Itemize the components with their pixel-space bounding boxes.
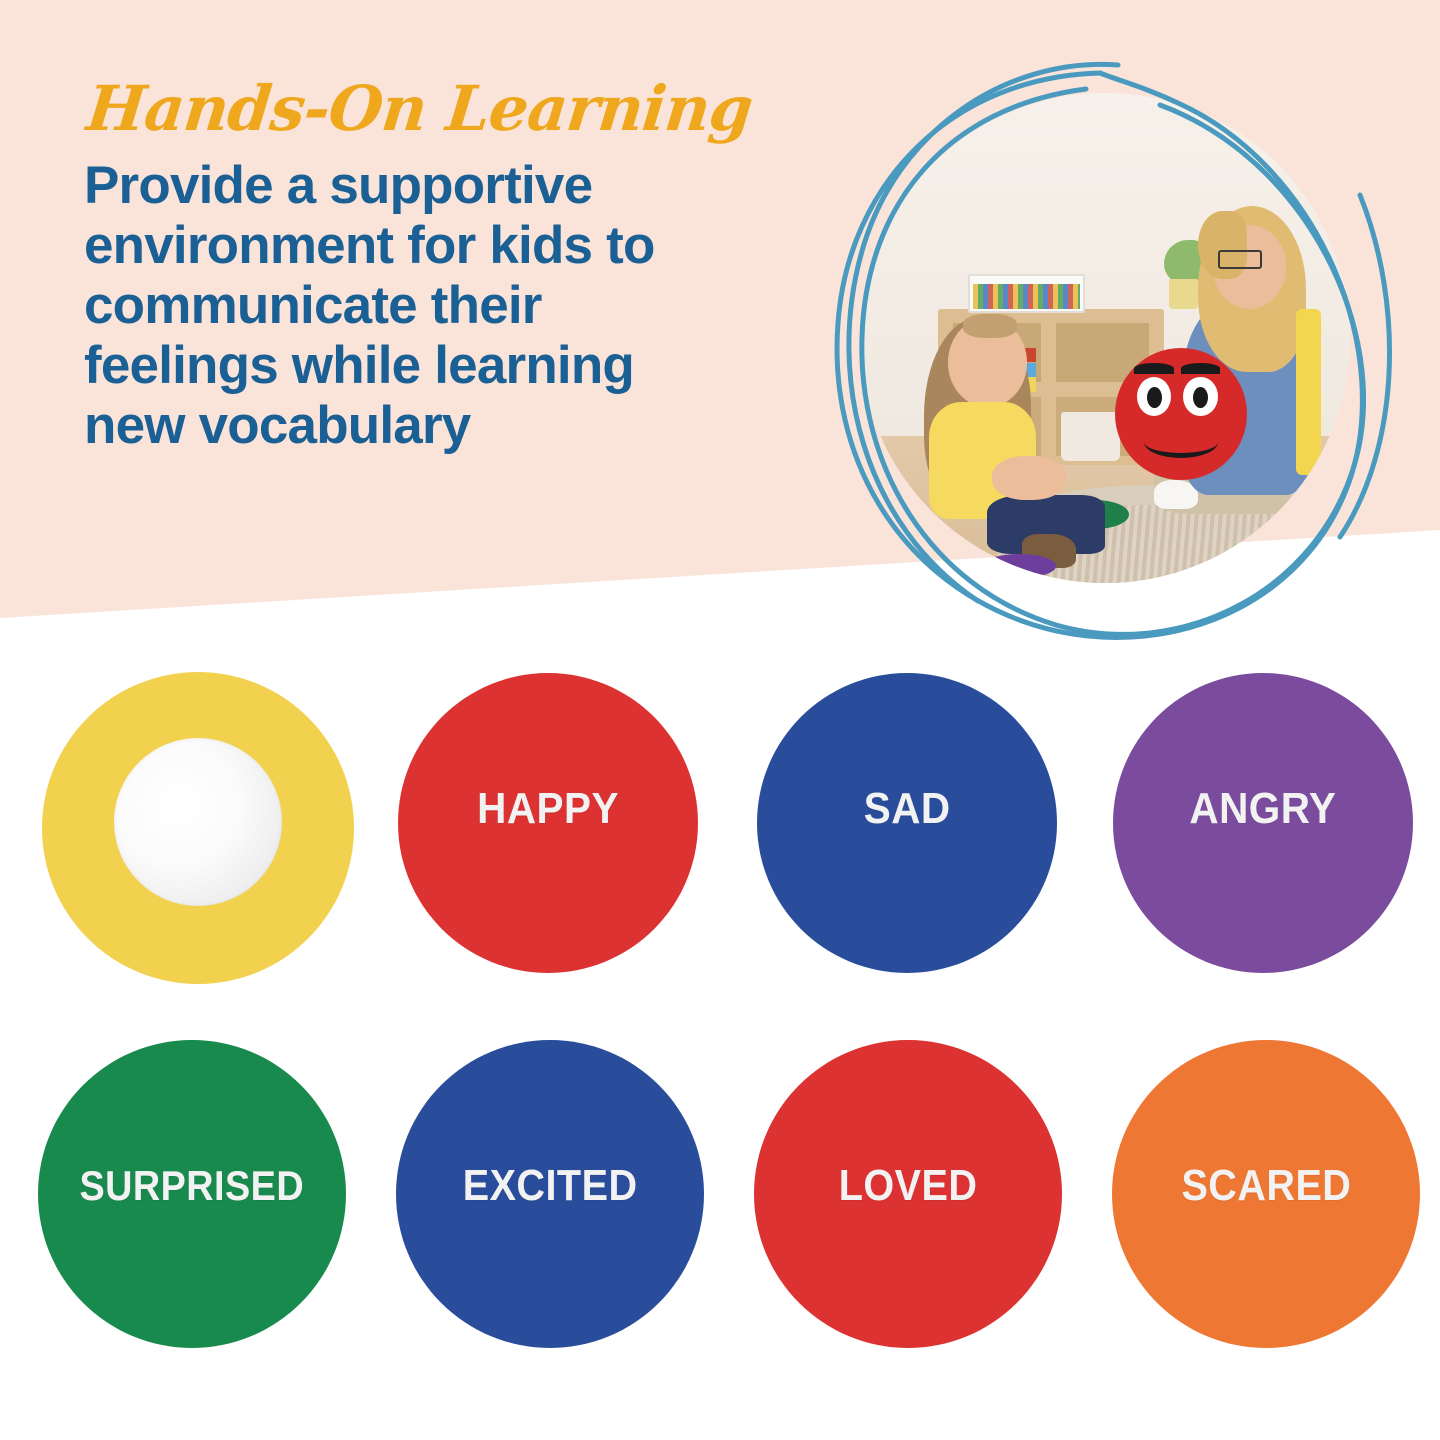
photo-plant-pot [1169,279,1198,308]
photo-smiley-eyebrow-right [1181,363,1220,374]
photo-purple-disc [983,554,1057,579]
photo-smiley-mouth [1144,426,1218,458]
angry-cushion[interactable]: ANGRY [1113,673,1413,973]
photo-smiley-eyebrow-left [1134,363,1173,374]
photo-storage-bin [1061,412,1120,461]
hero-copy-block: Hands-On Learning Provide a supportive e… [84,78,764,455]
cushion-label: LOVED [839,1161,978,1211]
lifestyle-photo [800,55,1400,665]
photo-smiley-pupil-left [1147,387,1162,408]
script-headline: Hands-On Learning [84,78,771,140]
excited-cushion[interactable]: EXCITED [396,1040,704,1348]
surprised-cushion[interactable]: SURPRISED [38,1040,346,1348]
photo-teacher-glasses [1218,250,1262,270]
cushion-label: SCARED [1181,1161,1351,1211]
scared-cushion[interactable]: SCARED [1112,1040,1420,1348]
photo-smiley-pupil-right [1193,387,1208,408]
happy-cushion[interactable]: HAPPY [398,673,698,973]
photo-girl-arm [992,456,1066,500]
loved-cushion[interactable]: LOVED [754,1040,1062,1348]
photo-circle-mask [860,93,1350,583]
mirror-cushion[interactable] [42,672,354,984]
cushion-label: EXCITED [463,1161,638,1211]
photo-markers [973,284,1081,309]
mirror-surface [114,738,282,906]
photo-girl-braid [963,314,1017,339]
cushion-label: ANGRY [1190,784,1337,834]
photo-yellow-noodle [1296,309,1321,476]
body-headline: Provide a supportive environment for kid… [84,156,744,455]
sad-cushion[interactable]: SAD [757,673,1057,973]
cushion-label: SAD [864,784,951,834]
cushion-label: HAPPY [477,784,619,834]
cushion-label: SURPRISED [80,1162,305,1210]
